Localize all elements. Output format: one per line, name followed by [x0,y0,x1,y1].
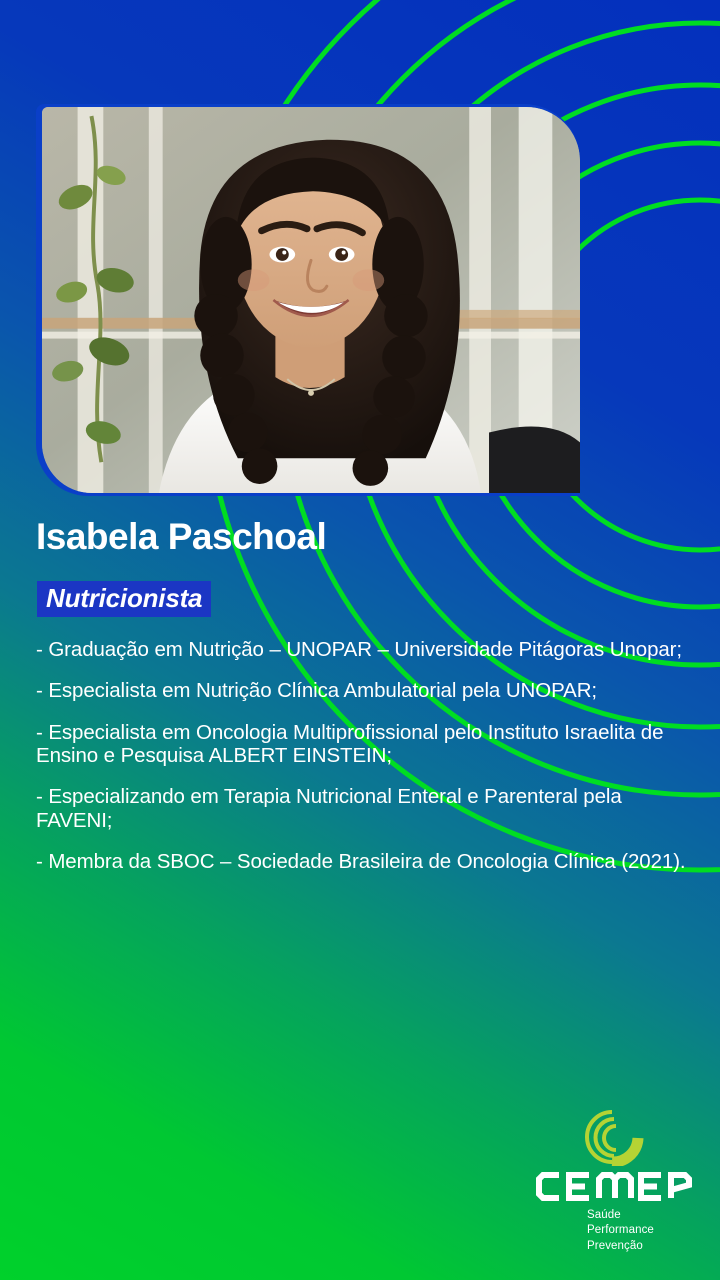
tagline-line-1: Saúde [587,1208,654,1223]
avatar-illustration [42,107,580,493]
profile-card: Isabela Paschoal Nutricionista - Graduaç… [0,0,720,1280]
cemep-wordmark [530,1166,695,1206]
tagline-line-3: Prevenção [587,1239,654,1254]
avatar [42,107,580,493]
list-item: - Especialista em Nutrição Clínica Ambul… [36,679,686,702]
logo-tagline: Saúde Performance Prevenção [587,1208,654,1254]
list-item: - Membra da SBOC – Sociedade Brasileira … [36,850,686,873]
cemep-c-arcs-icon [582,1108,644,1166]
list-item: - Especializando em Terapia Nutricional … [36,785,686,832]
tagline-line-2: Performance [587,1223,654,1238]
credentials-list: - Graduação em Nutrição – UNOPAR – Unive… [36,638,686,892]
cemep-logo: Saúde Performance Prevenção [530,1108,695,1253]
status-badge: Nutricionista [37,581,211,617]
page-title: Isabela Paschoal [36,518,326,555]
list-item: - Especialista em Oncologia Multiprofiss… [36,721,686,768]
list-item: - Graduação em Nutrição – UNOPAR – Unive… [36,638,686,661]
profile-photo-frame [36,104,580,496]
